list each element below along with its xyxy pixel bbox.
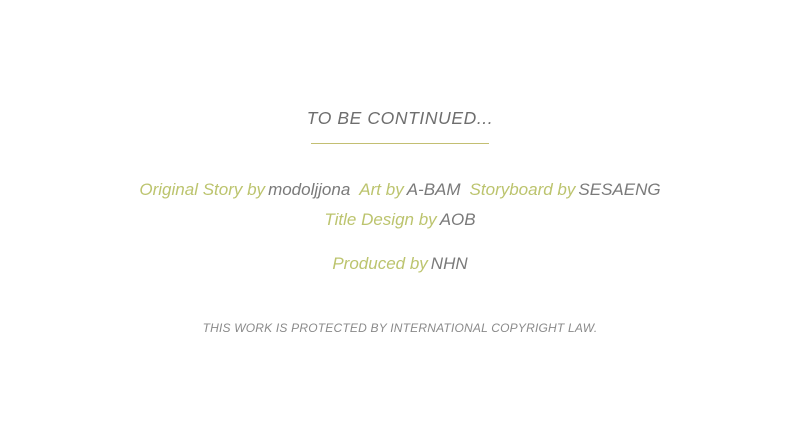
- credit-line-primary: Original Story bymodoljjonaArt byA-BAMSt…: [139, 181, 660, 198]
- credit-line-title-design: Title Design byAOB: [139, 211, 660, 228]
- credit-pair-original-story: Original Story bymodoljjona: [139, 180, 350, 199]
- credit-role-label: Art by: [359, 180, 403, 199]
- credit-line-produced-by: Produced byNHN: [139, 255, 660, 272]
- credit-name-value: AOB: [440, 210, 476, 229]
- to-be-continued-heading: TO BE CONTINUED...: [307, 110, 493, 128]
- credit-pair-art: Art byA-BAM: [359, 180, 460, 199]
- divider-rule: [311, 143, 489, 144]
- credit-name-value: modoljjona: [268, 180, 350, 199]
- credit-role-label: Original Story by: [139, 180, 265, 199]
- credit-name-value: A-BAM: [407, 180, 461, 199]
- episode-end-card: TO BE CONTINUED... Original Story bymodo…: [0, 0, 800, 426]
- credit-name-value: NHN: [431, 254, 468, 273]
- credit-role-label: Title Design by: [324, 210, 436, 229]
- credit-pair-storyboard: Storyboard bySESAENG: [470, 180, 661, 199]
- credit-pair-title-design: Title Design byAOB: [324, 210, 475, 229]
- copyright-notice: THIS WORK IS PROTECTED BY INTERNATIONAL …: [203, 322, 598, 334]
- credit-name-value: SESAENG: [578, 180, 660, 199]
- credit-role-label: Produced by: [332, 254, 427, 273]
- credits-block: Original Story bymodoljjonaArt byA-BAMSt…: [139, 181, 660, 272]
- credit-role-label: Storyboard by: [470, 180, 576, 199]
- credit-pair-produced-by: Produced byNHN: [332, 254, 467, 273]
